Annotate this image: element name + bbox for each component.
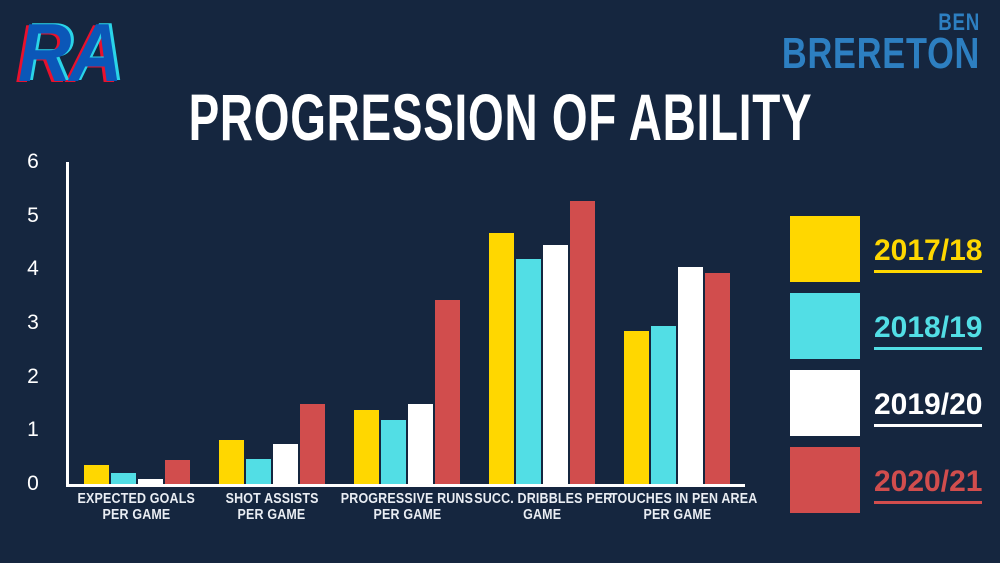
bar-chart: 0123456 EXPECTED GOALSPER GAMESHOT ASSIS…: [0, 150, 780, 550]
x-axis-label-line: EXPECTED GOALS: [78, 492, 195, 508]
ra-logo: RA RA RA: [18, 10, 138, 90]
legend-swatch: [790, 216, 860, 282]
bar-2017-18-1: [84, 465, 109, 484]
legend-label: 2018/19: [874, 311, 982, 350]
bar-group: [204, 162, 339, 484]
x-axis-label-line: TOUCHES IN PEN AREA: [610, 492, 757, 508]
bar-2020-21-5: [705, 273, 730, 484]
bar-2018-19-2: [246, 459, 271, 484]
bar-2017-18-3: [354, 410, 379, 484]
y-axis-tick-label: 6: [8, 150, 58, 174]
bar-2018-19-3: [381, 420, 406, 484]
bars-area: [69, 162, 745, 484]
y-axis-tick-label: 1: [8, 418, 58, 442]
bar-group: [339, 162, 474, 484]
y-axis-tick-label: 3: [8, 311, 58, 335]
legend-label: 2017/18: [874, 234, 982, 273]
y-axis-tick-label: 4: [8, 257, 58, 281]
bar-2019-20-5: [678, 267, 703, 484]
bar-2019-20-1: [138, 479, 163, 484]
page-title-text: PROGRESSION OF ABILITY: [188, 86, 812, 152]
chart-page: RA RA RA BEN BRERETON PROGRESSION OF ABI…: [0, 0, 1000, 563]
x-axis-label-line: PER GAME: [643, 508, 711, 524]
bar-2017-18-4: [489, 233, 514, 484]
bar-2020-21-3: [435, 300, 460, 484]
logo-glyph-blue: RA: [18, 11, 120, 94]
legend-swatch: [790, 370, 860, 436]
legend-item[interactable]: 2020/21: [790, 447, 985, 517]
bar-2017-18-5: [624, 331, 649, 484]
x-axis-label-line: GAME: [523, 508, 561, 524]
bar-2020-21-4: [570, 201, 595, 484]
y-axis-tick-label: 5: [8, 204, 58, 228]
bar-2019-20-2: [273, 444, 298, 484]
legend-label: 2020/21: [874, 465, 982, 504]
bar-group: [69, 162, 204, 484]
bar-2020-21-2: [300, 404, 325, 485]
legend-item[interactable]: 2017/18: [790, 216, 985, 286]
bar-2020-21-1: [165, 460, 190, 484]
x-axis-label-line: PER GAME: [373, 508, 441, 524]
player-last-name: BRERETON: [782, 34, 980, 74]
bar-group: [475, 162, 610, 484]
x-axis-line: [66, 484, 745, 487]
bar-2019-20-3: [408, 404, 433, 485]
bar-2019-20-4: [543, 245, 568, 484]
legend-swatch: [790, 447, 860, 513]
legend-item[interactable]: 2019/20: [790, 370, 985, 440]
bar-2018-19-5: [651, 326, 676, 484]
legend: 2017/182018/192019/202020/21: [790, 216, 985, 524]
player-name: BEN BRERETON: [726, 12, 980, 75]
x-axis-label: TOUCHES IN PEN AREAPER GAME: [598, 492, 757, 523]
x-axis-label-line: SUCC. DRIBBLES PER: [474, 492, 612, 508]
x-axis-label-line: PER GAME: [103, 508, 171, 524]
bar-2018-19-4: [516, 259, 541, 484]
x-axis-label-line: SHOT ASSISTS: [225, 492, 318, 508]
legend-item[interactable]: 2018/19: [790, 293, 985, 363]
legend-label: 2019/20: [874, 388, 982, 427]
bar-2018-19-1: [111, 473, 136, 484]
legend-swatch: [790, 293, 860, 359]
bar-group: [610, 162, 745, 484]
bar-2017-18-2: [219, 440, 244, 484]
x-axis-label-line: PROGRESSIVE RUNS: [341, 492, 473, 508]
y-axis-tick-label: 0: [8, 472, 58, 496]
y-axis-tick-label: 2: [8, 365, 58, 389]
x-axis-label-line: PER GAME: [238, 508, 306, 524]
page-title: PROGRESSION OF ABILITY: [0, 86, 1000, 148]
